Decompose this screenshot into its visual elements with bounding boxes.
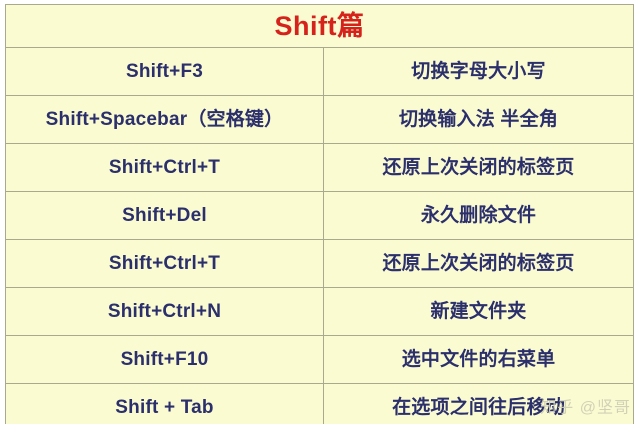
shortcut-description-cell: 永久删除文件 [324,192,634,240]
table-title-row: Shift篇 [6,5,634,48]
table-row: Shift+Del 永久删除文件 [6,192,634,240]
shortcut-description-cell: 切换输入法 半全角 [324,96,634,144]
shortcut-description-cell: 新建文件夹 [324,288,634,336]
table-row: Shift+Ctrl+N 新建文件夹 [6,288,634,336]
table-row: Shift+F10 选中文件的右菜单 [6,336,634,384]
shortcut-cheatsheet: Shift篇 Shift+F3 切换字母大小写 Shift+Spacebar（空… [0,0,640,422]
shortcut-description-cell: 选中文件的右菜单 [324,336,634,384]
shortcut-description-cell: 还原上次关闭的标签页 [324,144,634,192]
table-row: Shift + Tab 在选项之间往后移动 知乎 @坚哥 [6,384,634,424]
shortcut-description-cell: 还原上次关闭的标签页 [324,240,634,288]
shortcut-description-cell: 切换字母大小写 [324,48,634,96]
table-container: Shift篇 Shift+F3 切换字母大小写 Shift+Spacebar（空… [5,4,634,424]
shortcut-key-cell: Shift+Ctrl+T [6,240,324,288]
shortcut-description-cell: 在选项之间往后移动 知乎 @坚哥 [324,384,634,424]
table-body: Shift篇 Shift+F3 切换字母大小写 Shift+Spacebar（空… [6,5,634,424]
shortcut-description-text: 在选项之间往后移动 [392,397,565,418]
shortcut-table: Shift篇 Shift+F3 切换字母大小写 Shift+Spacebar（空… [5,4,634,424]
shortcut-key-cell: Shift + Tab [6,384,324,424]
shortcut-key-cell: Shift+F10 [6,336,324,384]
table-row: Shift+Ctrl+T 还原上次关闭的标签页 [6,144,634,192]
page-title: Shift篇 [6,5,634,48]
shortcut-key-cell: Shift+F3 [6,48,324,96]
shortcut-key-cell: Shift+Ctrl+T [6,144,324,192]
table-row: Shift+F3 切换字母大小写 [6,48,634,96]
shortcut-key-cell: Shift+Spacebar（空格键） [6,96,324,144]
table-row: Shift+Ctrl+T 还原上次关闭的标签页 [6,240,634,288]
shortcut-key-cell: Shift+Del [6,192,324,240]
shortcut-key-cell: Shift+Ctrl+N [6,288,324,336]
table-row: Shift+Spacebar（空格键） 切换输入法 半全角 [6,96,634,144]
